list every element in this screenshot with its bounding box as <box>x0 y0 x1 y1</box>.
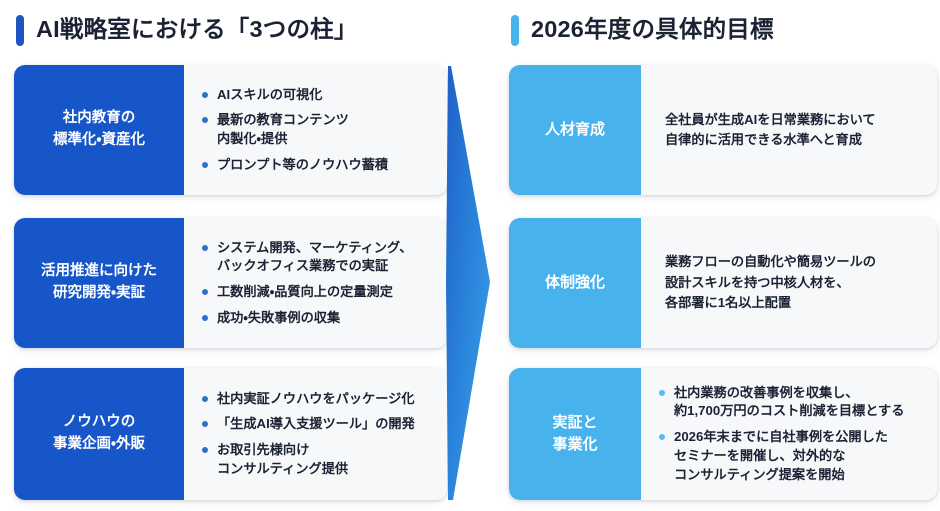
right-arrow-chevron-icon <box>444 60 500 506</box>
pillar-label-line1: 社内教育の <box>53 108 145 130</box>
pillar-label-line2: 研究開発・実証 <box>41 283 157 305</box>
pillar-card-label: 社内教育の 標準化・資産化 <box>14 65 184 195</box>
pillar-label-line1: ノウハウの <box>53 412 145 434</box>
pillar-card-body: AIスキルの可視化 最新の教育コンテンツ内製化・提供 プロンプト等のノウハウ蓄積 <box>184 65 447 195</box>
goal-label-line1: 実証と <box>552 412 597 435</box>
pillar-card[interactable]: ノウハウの 事業企画・外販 社内実証ノウハウをパッケージ化 「生成AI導入支援ツ… <box>14 368 447 500</box>
list-item: 最新の教育コンテンツ内製化・提供 <box>202 111 431 148</box>
pillar-card[interactable]: 活用推進に向けた 研究開発・実証 システム開発、マーケティング、バックオフィス業… <box>14 218 447 348</box>
left-section-heading: AI戦略室における「3つの柱」 <box>16 12 358 48</box>
left-column: AI戦略室における「3つの柱」 社内教育の 標準化・資産化 AIスキルの可視化 … <box>14 0 447 502</box>
goal-card-body: 社内業務の改善事例を収集し、約1,700万円のコスト削減を目標とする 2026年… <box>641 368 937 500</box>
pillar-bullet-list: 社内実証ノウハウをパッケージ化 「生成AI導入支援ツール」の開発 お取引先様向け… <box>202 390 431 479</box>
list-item: AIスキルの可視化 <box>202 86 431 105</box>
list-item: 社内業務の改善事例を収集し、約1,700万円のコスト削減を目標とする <box>659 384 921 421</box>
pillar-label-line2: 標準化・資産化 <box>53 130 145 152</box>
list-item: 2026年末までに自社事例を公開したセミナーを開催し、対外的なコンサルティング提… <box>659 428 921 484</box>
goal-label-line1: 人材育成 <box>545 119 605 142</box>
pillar-bullet-list: システム開発、マーケティング、バックオフィス業務での実証 工数削減・品質向上の定… <box>202 239 431 328</box>
list-item: お取引先様向けコンサルティング提供 <box>202 441 431 478</box>
pillar-label-line1: 活用推進に向けた <box>41 261 157 283</box>
list-item: 社内実証ノウハウをパッケージ化 <box>202 390 431 409</box>
goal-card[interactable]: 人材育成 全社員が生成AIを日常業務において自律的に活用できる水準へと育成 <box>509 65 937 195</box>
left-heading-text: AI戦略室における「3つの柱」 <box>36 18 358 42</box>
right-column: 2026年度の具体的目標 人材育成 全社員が生成AIを日常業務において自律的に活… <box>509 0 937 502</box>
list-item: 「生成AI導入支援ツール」の開発 <box>202 415 431 434</box>
goal-description: 業務フローの自動化や簡易ツールの設計スキルを持つ中核人材を、各部署に1名以上配置 <box>659 252 921 313</box>
right-section-heading: 2026年度の具体的目標 <box>511 12 774 48</box>
list-item: 成功・失敗事例の収集 <box>202 309 431 328</box>
pillar-bullet-list: AIスキルの可視化 最新の教育コンテンツ内製化・提供 プロンプト等のノウハウ蓄積 <box>202 86 431 175</box>
pillar-card-label: ノウハウの 事業企画・外販 <box>14 368 184 500</box>
goal-card-body: 業務フローの自動化や簡易ツールの設計スキルを持つ中核人材を、各部署に1名以上配置 <box>641 218 937 348</box>
pillar-card-body: 社内実証ノウハウをパッケージ化 「生成AI導入支援ツール」の開発 お取引先様向け… <box>184 368 447 500</box>
slide-root: AI戦略室における「3つの柱」 社内教育の 標準化・資産化 AIスキルの可視化 … <box>0 0 940 502</box>
right-heading-text: 2026年度の具体的目標 <box>531 18 774 42</box>
goal-card-label: 人材育成 <box>509 65 641 195</box>
list-item: システム開発、マーケティング、バックオフィス業務での実証 <box>202 239 431 276</box>
list-item: 工数削減・品質向上の定量測定 <box>202 283 431 302</box>
goal-card-label: 実証と 事業化 <box>509 368 641 500</box>
goal-label-line1: 体制強化 <box>545 272 605 295</box>
pillar-card-label: 活用推進に向けた 研究開発・実証 <box>14 218 184 348</box>
goal-card[interactable]: 体制強化 業務フローの自動化や簡易ツールの設計スキルを持つ中核人材を、各部署に1… <box>509 218 937 348</box>
goal-description: 全社員が生成AIを日常業務において自律的に活用できる水準へと育成 <box>659 110 921 151</box>
goal-card-body: 全社員が生成AIを日常業務において自律的に活用できる水準へと育成 <box>641 65 937 195</box>
pillar-label-line2: 事業企画・外販 <box>53 434 145 456</box>
list-item: プロンプト等のノウハウ蓄積 <box>202 156 431 175</box>
goal-card[interactable]: 実証と 事業化 社内業務の改善事例を収集し、約1,700万円のコスト削減を目標と… <box>509 368 937 500</box>
accent-bar-icon <box>16 15 24 46</box>
pillar-card-body: システム開発、マーケティング、バックオフィス業務での実証 工数削減・品質向上の定… <box>184 218 447 348</box>
accent-bar-icon <box>511 15 519 46</box>
goal-card-label: 体制強化 <box>509 218 641 348</box>
pillar-card[interactable]: 社内教育の 標準化・資産化 AIスキルの可視化 最新の教育コンテンツ内製化・提供… <box>14 65 447 195</box>
goal-bullet-list: 社内業務の改善事例を収集し、約1,700万円のコスト削減を目標とする 2026年… <box>659 384 921 485</box>
goal-label-line2: 事業化 <box>552 434 597 457</box>
